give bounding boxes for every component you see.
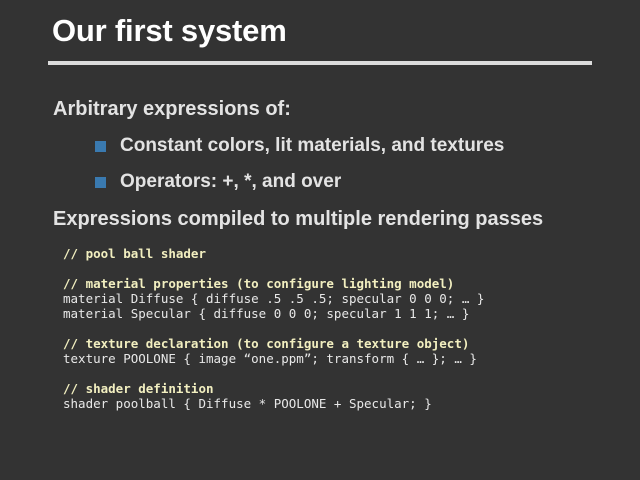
- bullet-item-constant-colors: Constant colors, lit materials, and text…: [95, 136, 504, 157]
- square-bullet-icon: [95, 141, 106, 152]
- square-bullet-icon: [95, 177, 106, 188]
- code-comment-line: // texture declaration (to configure a t…: [63, 336, 484, 351]
- code-line: shader poolball { Diffuse * POOLONE + Sp…: [63, 396, 484, 411]
- title-underline-rule: [48, 61, 592, 65]
- code-comment-line: // material properties (to configure lig…: [63, 276, 484, 291]
- bullet-item-label: Operators: +, *, and over: [120, 172, 341, 193]
- code-blank-line: [63, 261, 484, 276]
- code-comment-line: // pool ball shader: [63, 246, 484, 261]
- body-intro-text: Arbitrary expressions of:: [53, 98, 291, 120]
- slide-title: Our first system: [52, 14, 287, 48]
- code-line: material Specular { diffuse 0 0 0; specu…: [63, 306, 484, 321]
- bullet-item-operators: Operators: +, *, and over: [95, 172, 341, 193]
- bullet-item-label: Constant colors, lit materials, and text…: [120, 136, 504, 157]
- code-blank-line: [63, 321, 484, 336]
- code-line: material Diffuse { diffuse .5 .5 .5; spe…: [63, 291, 484, 306]
- code-line: texture POOLONE { image “one.ppm”; trans…: [63, 351, 484, 366]
- slide: Our first system Arbitrary expressions o…: [0, 0, 640, 480]
- code-comment-line: // shader definition: [63, 381, 484, 396]
- body-conclusion-text: Expressions compiled to multiple renderi…: [53, 208, 543, 230]
- code-block: // pool ball shader // material properti…: [63, 246, 484, 411]
- code-blank-line: [63, 366, 484, 381]
